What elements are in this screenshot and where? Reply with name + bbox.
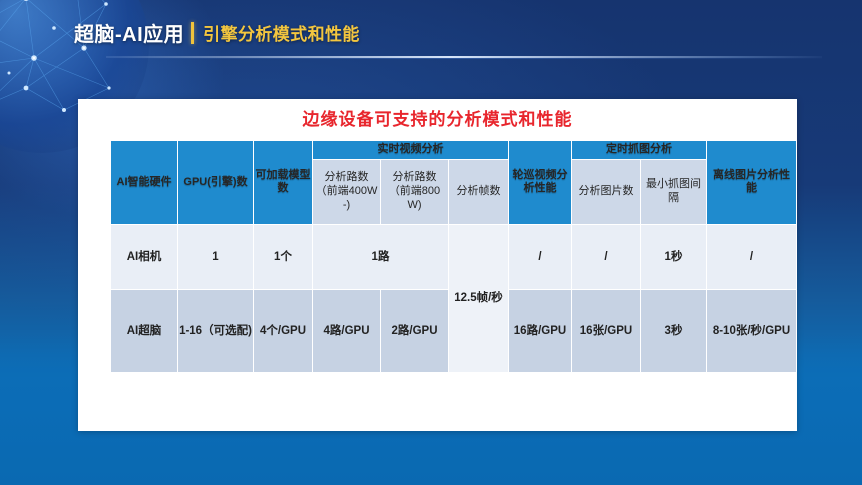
cell-capture-images: /	[572, 224, 641, 289]
content-card: 边缘设备可支持的分析模式和性能 AI智能硬件 GPU(引擎)数 可加载模型数 实…	[78, 99, 797, 431]
table-header-group-row: AI智能硬件 GPU(引擎)数 可加载模型数 实时视频分析 轮巡视频分析性能 定…	[111, 141, 797, 160]
cell-min-interval: 1秒	[641, 224, 707, 289]
table-title: 边缘设备可支持的分析模式和性能	[78, 105, 797, 130]
cell-offline-image: /	[707, 224, 797, 289]
header-divider-shadow	[106, 58, 822, 59]
cell-channels-merged: 1路	[313, 224, 449, 289]
cell-gpu-count: 1-16（可选配)	[178, 289, 254, 372]
page-title: 超脑-AI应用	[74, 18, 184, 47]
performance-table: AI智能硬件 GPU(引擎)数 可加载模型数 实时视频分析 轮巡视频分析性能 定…	[110, 140, 797, 373]
cell-gpu-count: 1	[178, 224, 254, 289]
cell-min-interval: 3秒	[641, 289, 707, 372]
col-subheader-channels-800w: 分析路数（前端800W)	[381, 159, 449, 224]
cell-channels-800w: 2路/GPU	[381, 289, 449, 372]
col-subheader-capture-images: 分析图片数	[572, 159, 641, 224]
cell-hardware-name: AI相机	[111, 224, 178, 289]
cell-patrol-video: /	[509, 224, 572, 289]
col-subheader-channels-400w: 分析路数（前端400W-)	[313, 159, 381, 224]
title-divider-bar	[191, 22, 194, 44]
col-subheader-frame-rate: 分析帧数	[449, 159, 509, 224]
cell-offline-image: 8-10张/秒/GPU	[707, 289, 797, 372]
col-header-loadable-models: 可加载模型数	[254, 141, 313, 225]
cell-frame-rate: 12.5帧/秒	[449, 224, 509, 372]
cell-patrol-video: 16路/GPU	[509, 289, 572, 372]
cell-capture-images: 16张/GPU	[572, 289, 641, 372]
cell-channels-400w: 4路/GPU	[313, 289, 381, 372]
col-header-ai-hardware: AI智能硬件	[111, 141, 178, 225]
slide-background: 超脑-AI应用 引擎分析模式和性能 边缘设备可支持的分析模式和性能 AI智能硬件…	[0, 0, 862, 485]
col-header-timed-capture: 定时抓图分析	[572, 141, 707, 160]
col-header-offline-image: 离线图片分析性能	[707, 141, 797, 225]
cell-loadable-models: 4个/GPU	[254, 289, 313, 372]
col-header-gpu-count: GPU(引擎)数	[178, 141, 254, 225]
col-subheader-min-interval: 最小抓图间隔	[641, 159, 707, 224]
cell-loadable-models: 1个	[254, 224, 313, 289]
page-subtitle: 引擎分析模式和性能	[203, 20, 360, 45]
slide-header: 超脑-AI应用 引擎分析模式和性能	[0, 18, 862, 58]
cell-hardware-name: AI超脑	[111, 289, 178, 372]
table-row: AI相机 1 1个 1路 12.5帧/秒 / / 1秒 /	[111, 224, 797, 289]
col-header-patrol-video: 轮巡视频分析性能	[509, 141, 572, 225]
title-row: 超脑-AI应用 引擎分析模式和性能	[74, 18, 360, 47]
col-header-realtime-video: 实时视频分析	[313, 141, 509, 160]
